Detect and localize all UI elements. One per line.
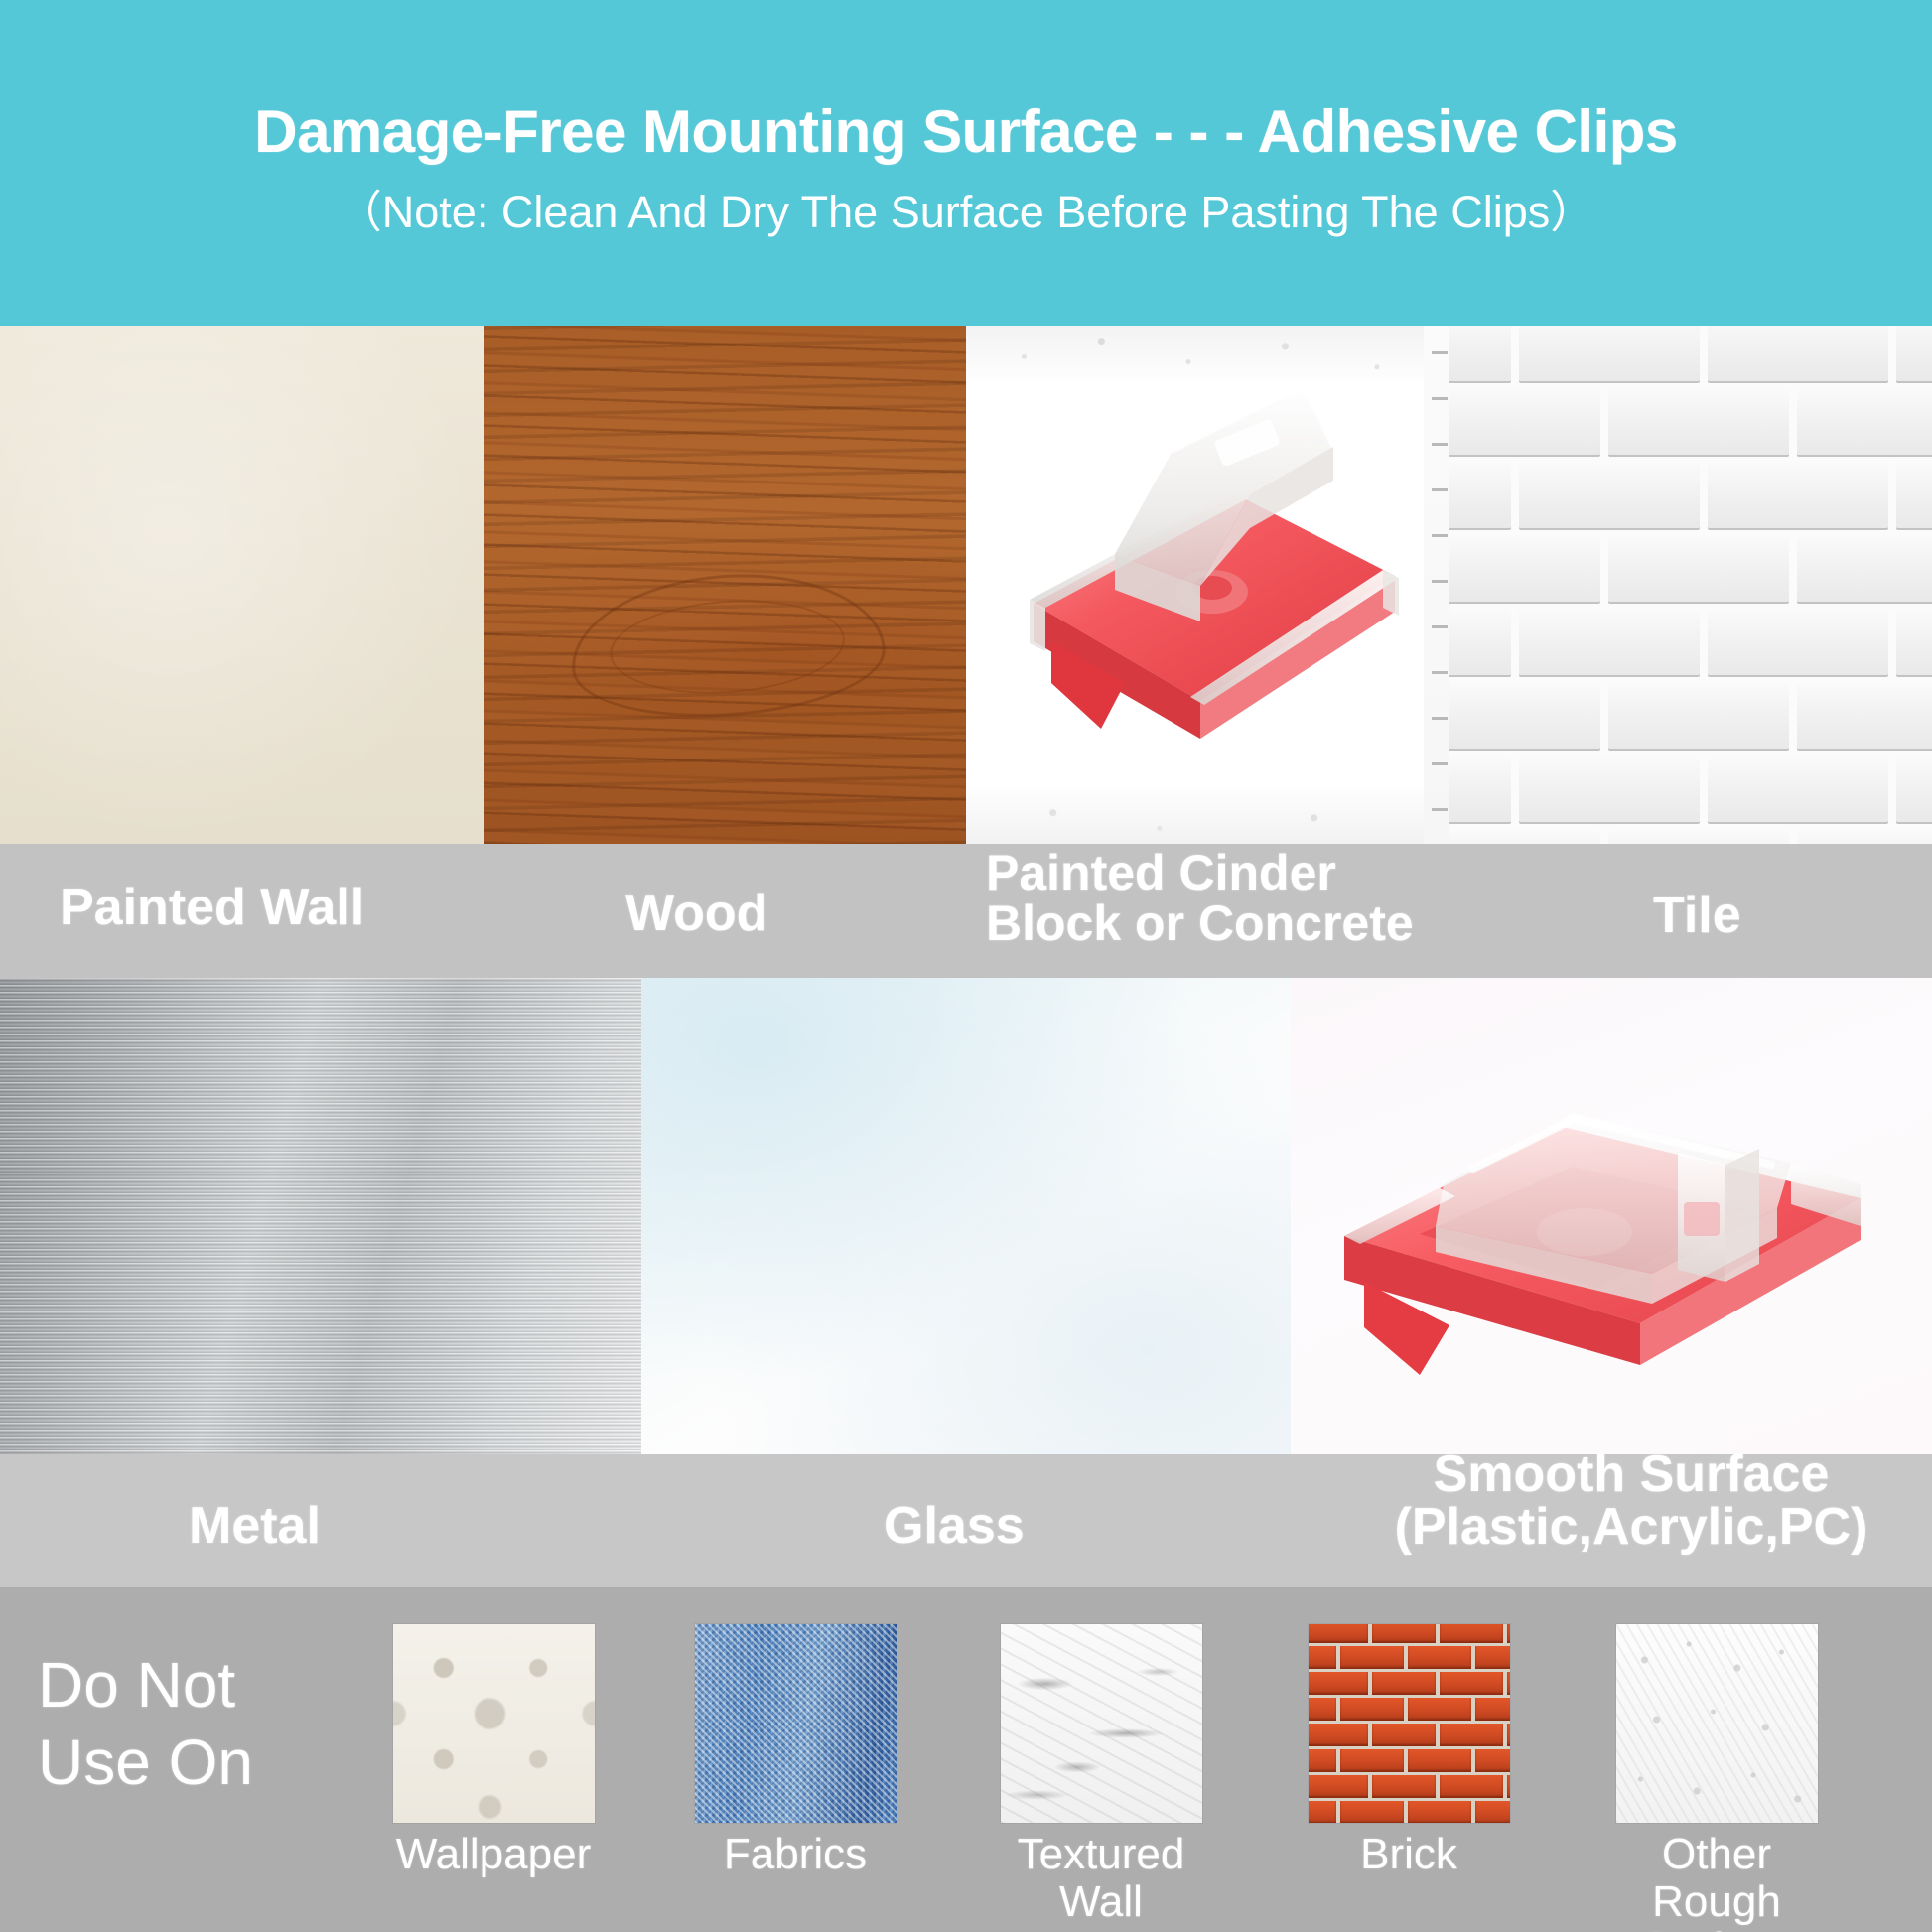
tile-unit [1519,463,1700,528]
brick-swatch [1309,1624,1510,1823]
brick-unit [1340,1646,1404,1669]
brick-unit [1309,1775,1368,1798]
tile-row [1449,757,1932,830]
surface-row-1 [0,326,1932,844]
rough-surface-swatch [1616,1624,1818,1823]
brick-unit [1340,1698,1404,1721]
tile-unit [1519,610,1700,675]
tile-unit [1449,326,1511,381]
tile-unit [1896,463,1932,528]
header-note: （Note: Clean And Dry The Surface Before … [338,189,1594,235]
surface-row-2 [0,978,1932,1454]
tile-unit [1797,683,1932,749]
brick-unit [1507,1624,1510,1643]
surface-swatch-tile [1449,326,1932,844]
brick-unit [1309,1672,1368,1695]
brick-unit [1372,1624,1436,1643]
tile-row [1449,610,1932,683]
brick-unit [1475,1698,1510,1721]
brushed-metal-texture [0,978,641,1454]
tile-unit [1896,326,1932,381]
tile-row [1449,326,1932,389]
tile-unit [1797,830,1932,844]
adhesive-clip-icon [1324,1057,1880,1385]
surface-label-wood: Wood [625,888,767,940]
surface-swatch-metal [0,978,641,1454]
tile-row [1449,536,1932,610]
tile-row [1449,683,1932,757]
header-banner: Damage-Free Mounting Surface - - - Adhes… [0,0,1932,326]
tile-unit [1896,757,1932,822]
tile-unit [1608,830,1789,844]
tile-unit [1449,463,1511,528]
brick-unit [1475,1646,1510,1669]
brick-unit [1309,1801,1336,1823]
wallpaper-swatch [393,1624,595,1823]
surface-label-band-2: Metal Glass Smooth Surface (Plastic,Acry… [0,1454,1932,1587]
surface-swatch-wood [484,326,966,844]
brick-unit [1372,1672,1436,1695]
brick-unit [1309,1749,1336,1772]
brick-unit [1309,1724,1368,1746]
tile-unit [1449,757,1511,822]
tile-unit [1797,536,1932,602]
do-not-use-section: Do Not Use On Wallpaper Fabrics Textured… [0,1587,1932,1932]
brick-row [1309,1775,1510,1802]
brick-unit [1408,1646,1471,1669]
brick-unit [1440,1775,1503,1798]
do-not-use-label-fabrics: Fabrics [671,1831,919,1878]
brick-row [1309,1646,1510,1673]
tile-unit [1449,536,1600,602]
tile-unit [1449,389,1600,455]
do-not-use-label-brick: Brick [1285,1831,1533,1878]
tile-unit [1708,463,1888,528]
tile-unit [1708,610,1888,675]
tile-unit [1797,389,1932,455]
page-title: Damage-Free Mounting Surface - - - Adhes… [254,100,1678,163]
surface-label-band-1: Painted Wall Wood Painted Cinder Block o… [0,844,1932,978]
do-not-use-label-textured-wall: Textured Wall [977,1831,1225,1925]
brick-unit [1309,1646,1336,1669]
tile-row [1449,389,1932,463]
tile-unit [1519,326,1700,381]
surface-label-painted-wall: Painted Wall [60,882,364,934]
tile-unit [1608,683,1789,749]
tile-unit [1708,326,1888,381]
do-not-use-heading-line2: Use On [38,1724,253,1801]
tile-row [1449,830,1932,844]
surface-label-painted-cinder-block: Painted Cinder Block or Concrete [986,848,1414,949]
adhesive-clip-photo-open [966,326,1449,844]
brick-pattern [1309,1624,1510,1823]
brick-unit [1507,1775,1510,1798]
tile-unit [1449,610,1511,675]
surface-label-tile: Tile [1653,890,1741,942]
brick-unit [1372,1775,1436,1798]
do-not-use-label-other-rough-surface: Other Rough Surface [1592,1831,1841,1932]
tile-unit [1896,610,1932,675]
tile-unit [1519,757,1700,822]
do-not-use-heading-line1: Do Not [38,1646,253,1724]
brick-unit [1440,1724,1503,1746]
brick-row [1309,1624,1510,1647]
brick-unit [1440,1672,1503,1695]
tile-unit [1708,757,1888,822]
tile-row [1449,463,1932,536]
tile-unit [1608,536,1789,602]
brick-unit [1340,1801,1404,1823]
textured-wall-swatch [1001,1624,1202,1823]
infographic-page: Damage-Free Mounting Surface - - - Adhes… [0,0,1932,1932]
surface-label-glass: Glass [884,1500,1025,1553]
brick-unit [1475,1801,1510,1823]
brick-row [1309,1698,1510,1725]
brick-row [1309,1724,1510,1750]
brick-unit [1372,1724,1436,1746]
brick-row [1309,1672,1510,1699]
adhesive-clip-icon [1006,355,1413,782]
adhesive-clip-photo-closed [1291,978,1932,1454]
tile-unit [1449,830,1600,844]
brick-unit [1309,1698,1336,1721]
tile-unit [1608,389,1789,455]
fabric-swatch [695,1624,897,1823]
brick-unit [1475,1749,1510,1772]
tile-unit [1449,683,1600,749]
brick-unit [1309,1624,1368,1643]
surface-label-metal: Metal [189,1500,321,1553]
surface-label-smooth-surface: Smooth Surface (Plastic,Acrylic,PC) [1330,1449,1932,1554]
brick-unit [1507,1724,1510,1746]
brick-row [1309,1749,1510,1776]
brick-unit [1408,1749,1471,1772]
surface-swatch-painted-wall [0,326,484,844]
brick-unit [1408,1801,1471,1823]
brick-row [1309,1801,1510,1823]
surface-swatch-painted-cinder-block [966,326,1449,844]
brick-unit [1340,1749,1404,1772]
do-not-use-heading: Do Not Use On [38,1646,253,1801]
do-not-use-label-wallpaper: Wallpaper [369,1831,618,1878]
brick-unit [1507,1672,1510,1695]
surface-swatch-glass [641,978,1291,1454]
brick-unit [1408,1698,1471,1721]
surface-swatch-smooth-surface [1291,978,1932,1454]
subway-tile-pattern [1449,326,1932,844]
brick-unit [1440,1624,1503,1643]
